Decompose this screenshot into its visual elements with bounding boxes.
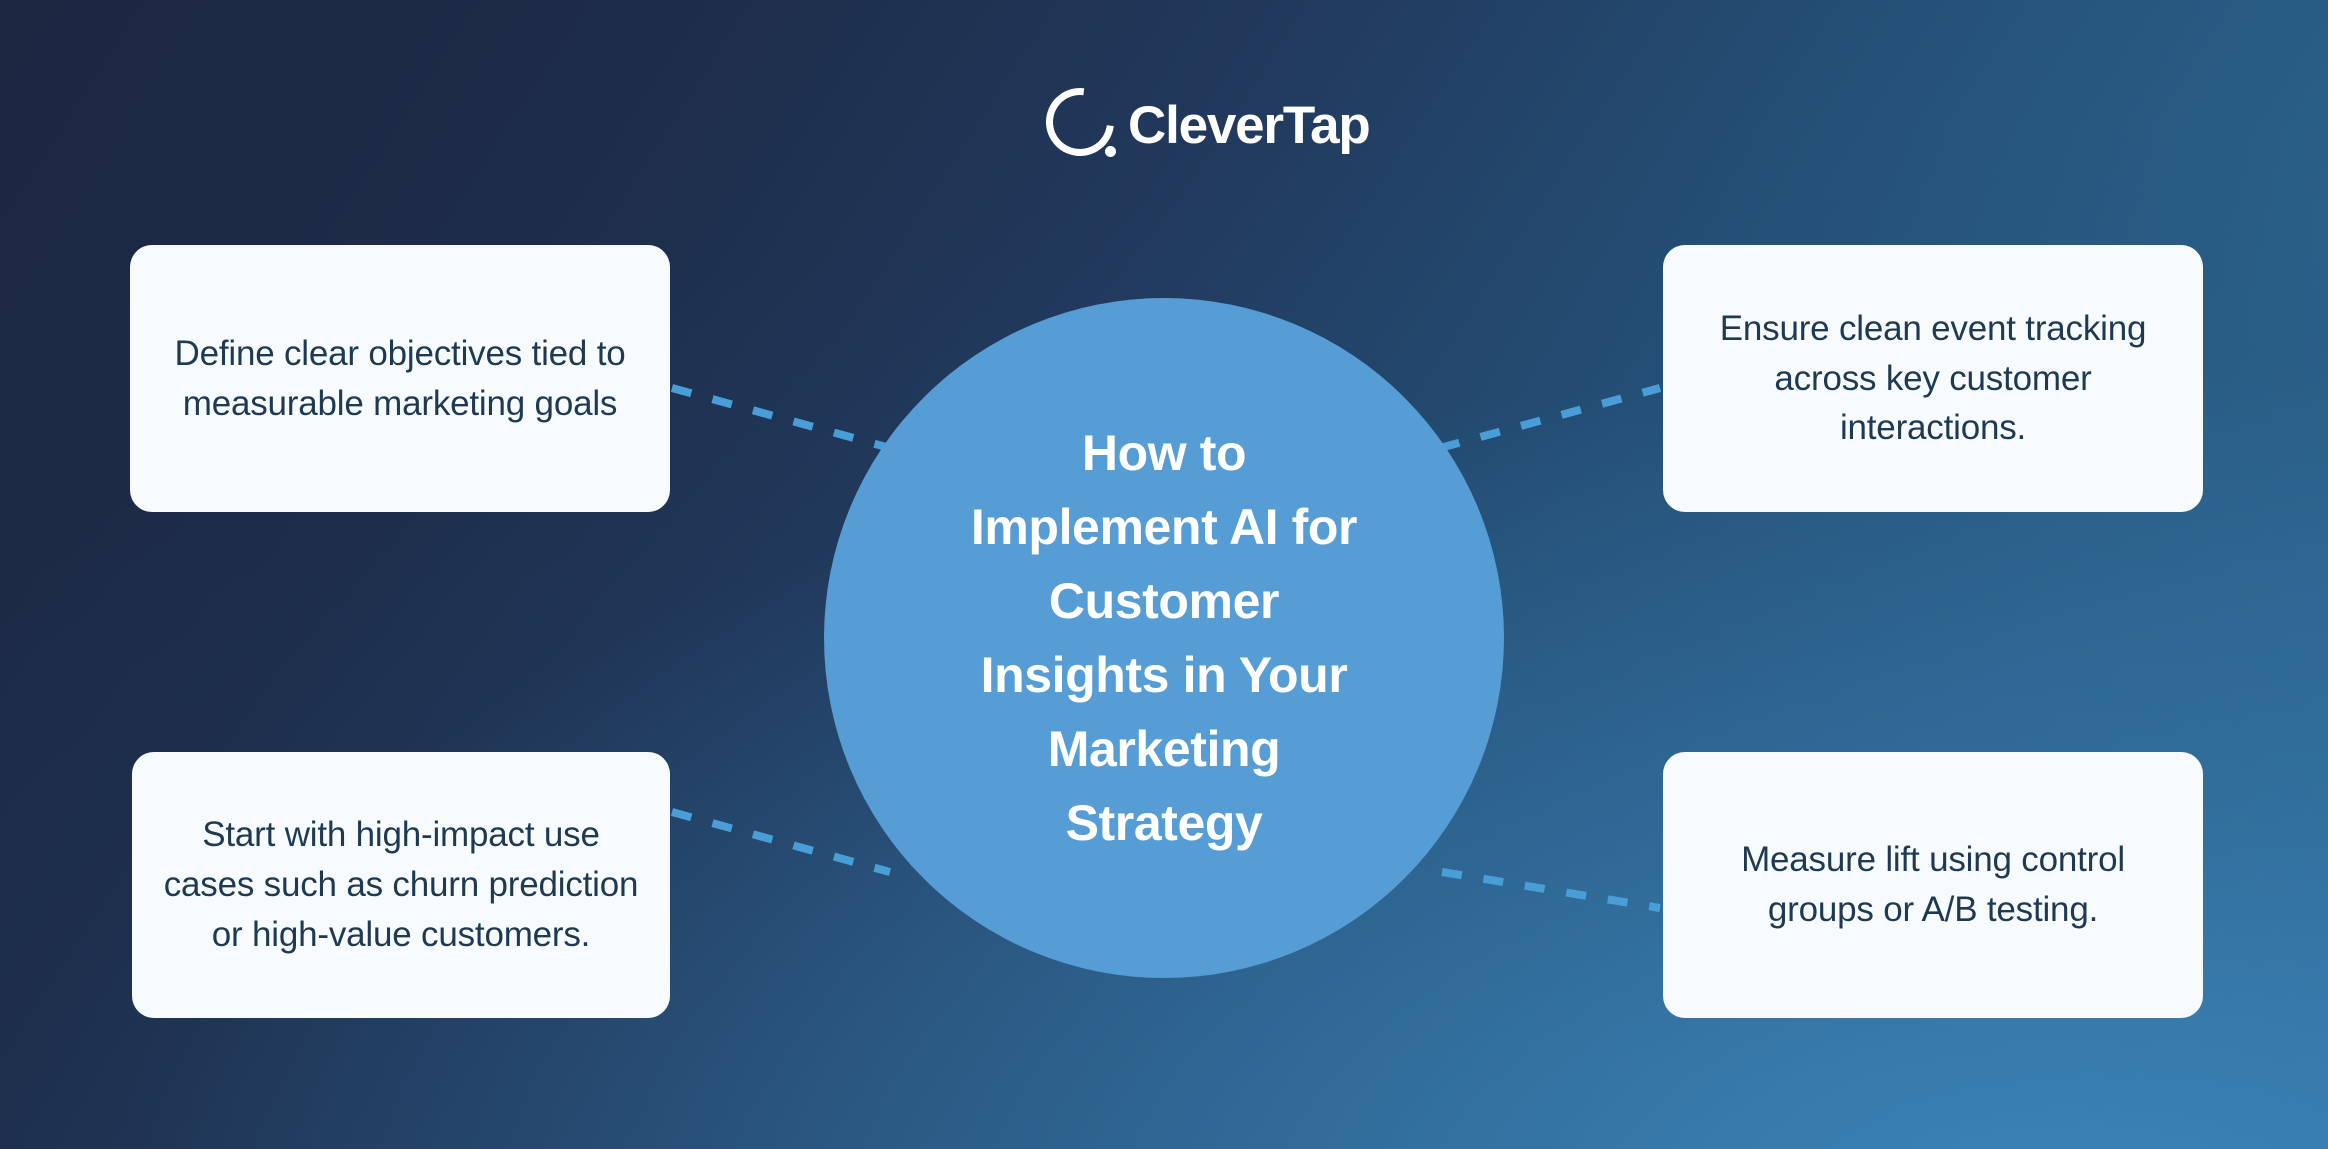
card-bottom-right-text: Measure lift using control groups or A/B… [1689,835,2177,934]
card-top-left: Define clear objectives tied to measurab… [130,245,670,512]
logo-dot-shape [1105,146,1116,157]
card-top-right-text: Ensure clean event tracking across key c… [1689,304,2177,453]
connector-bottom-right [1442,872,1660,908]
card-bottom-right: Measure lift using control groups or A/B… [1663,752,2203,1018]
connector-top-right [1440,388,1660,448]
card-top-left-text: Define clear objectives tied to measurab… [156,329,644,428]
card-top-right: Ensure clean event tracking across key c… [1663,245,2203,512]
center-circle: How to Implement AI for Customer Insight… [824,298,1504,978]
card-bottom-left-text: Start with high-impact use cases such as… [158,810,644,959]
infographic-canvas: CleverTap How to Implement AI for Custom… [0,0,2328,1149]
logo-wordmark: CleverTap [1128,99,1370,152]
clevertap-arc-logo-icon [1040,84,1122,166]
card-bottom-left: Start with high-impact use cases such as… [132,752,670,1018]
center-title: How to Implement AI for Customer Insight… [929,416,1399,860]
connector-bottom-left [672,812,890,872]
clevertap-logo: CleverTap [1040,84,1290,166]
connector-top-left [672,388,890,448]
